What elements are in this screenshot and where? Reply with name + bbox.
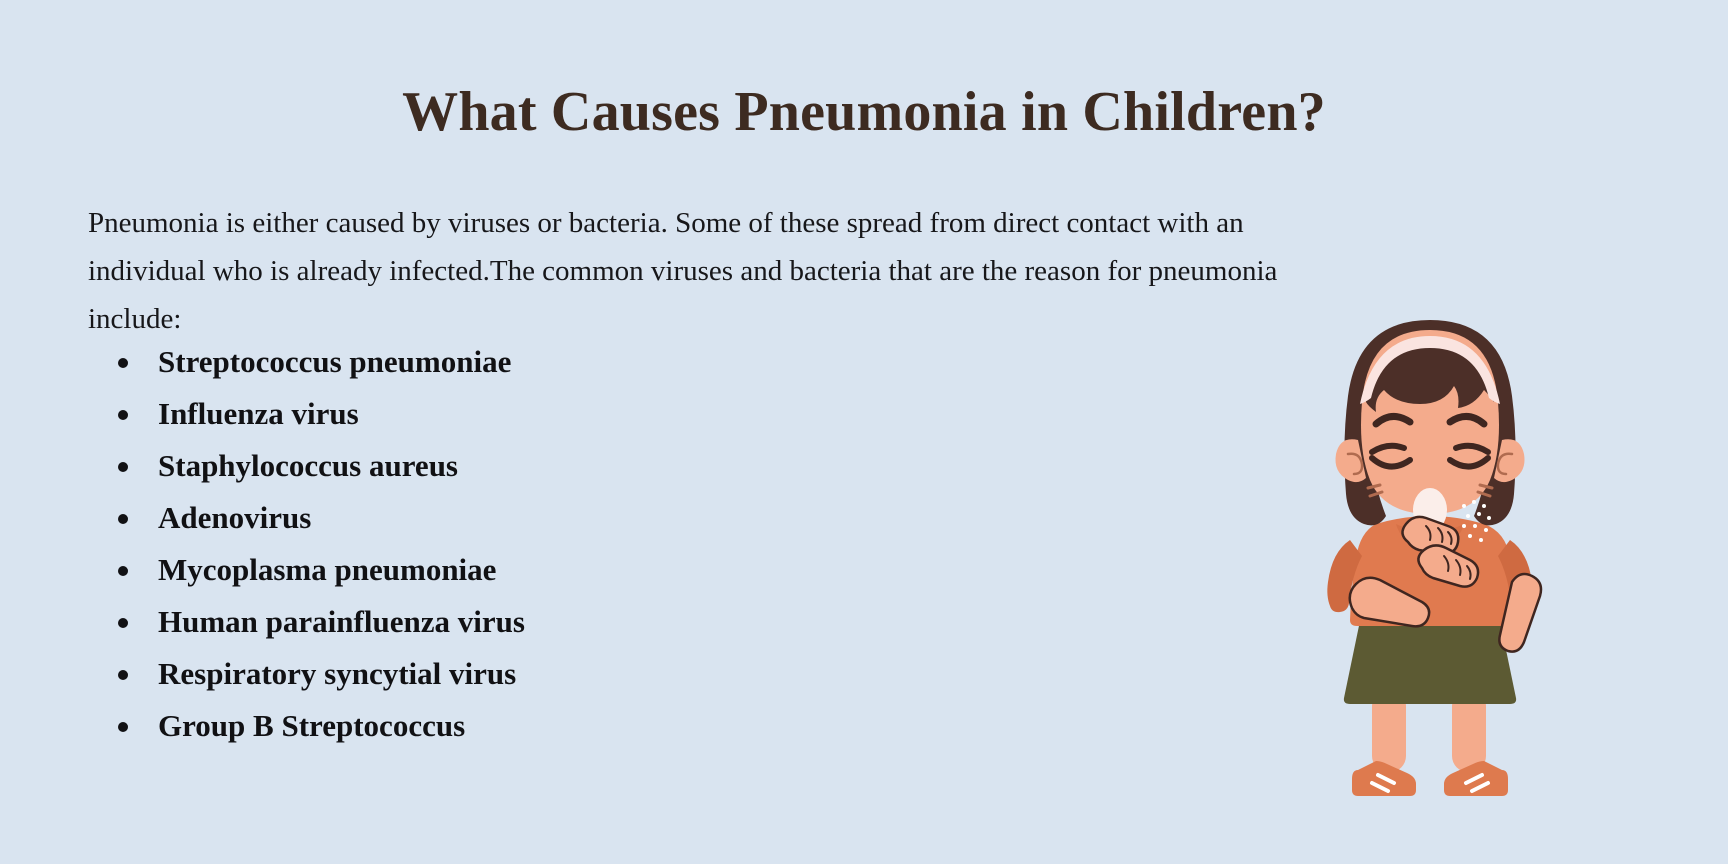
bullet-icon bbox=[118, 358, 128, 368]
list-item: Staphylococcus aureus bbox=[112, 446, 1012, 485]
causes-list: Streptococcus pneumoniae Influenza virus… bbox=[112, 342, 1012, 758]
bullet-icon bbox=[118, 722, 128, 732]
list-item-label: Human parainfluenza virus bbox=[158, 604, 525, 639]
list-item-label: Group B Streptococcus bbox=[158, 708, 465, 743]
head-group bbox=[1336, 320, 1525, 532]
bullet-icon bbox=[118, 670, 128, 680]
bullet-icon bbox=[118, 514, 128, 524]
bullet-icon bbox=[118, 618, 128, 628]
coughing-girl-illustration bbox=[1280, 292, 1580, 812]
bullet-icon bbox=[118, 410, 128, 420]
bullet-icon bbox=[118, 462, 128, 472]
bullet-icon bbox=[118, 566, 128, 576]
list-item: Streptococcus pneumoniae bbox=[112, 342, 1012, 381]
list-item-label: Streptococcus pneumoniae bbox=[158, 344, 511, 379]
shoes-group bbox=[1352, 761, 1508, 796]
list-item: Mycoplasma pneumoniae bbox=[112, 550, 1012, 589]
intro-paragraph: Pneumonia is either caused by viruses or… bbox=[88, 199, 1363, 343]
list-item: Group B Streptococcus bbox=[112, 706, 1012, 745]
list-item-label: Mycoplasma pneumoniae bbox=[158, 552, 496, 587]
list-item-label: Influenza virus bbox=[158, 396, 359, 431]
list-item-label: Respiratory syncytial virus bbox=[158, 656, 516, 691]
list-item-label: Adenovirus bbox=[158, 500, 311, 535]
list-item: Human parainfluenza virus bbox=[112, 602, 1012, 641]
list-item: Influenza virus bbox=[112, 394, 1012, 433]
infographic-canvas: What Causes Pneumonia in Children? Pneum… bbox=[0, 0, 1728, 864]
page-title: What Causes Pneumonia in Children? bbox=[0, 82, 1728, 144]
list-item-label: Staphylococcus aureus bbox=[158, 448, 458, 483]
list-item: Adenovirus bbox=[112, 498, 1012, 537]
list-item: Respiratory syncytial virus bbox=[112, 654, 1012, 693]
